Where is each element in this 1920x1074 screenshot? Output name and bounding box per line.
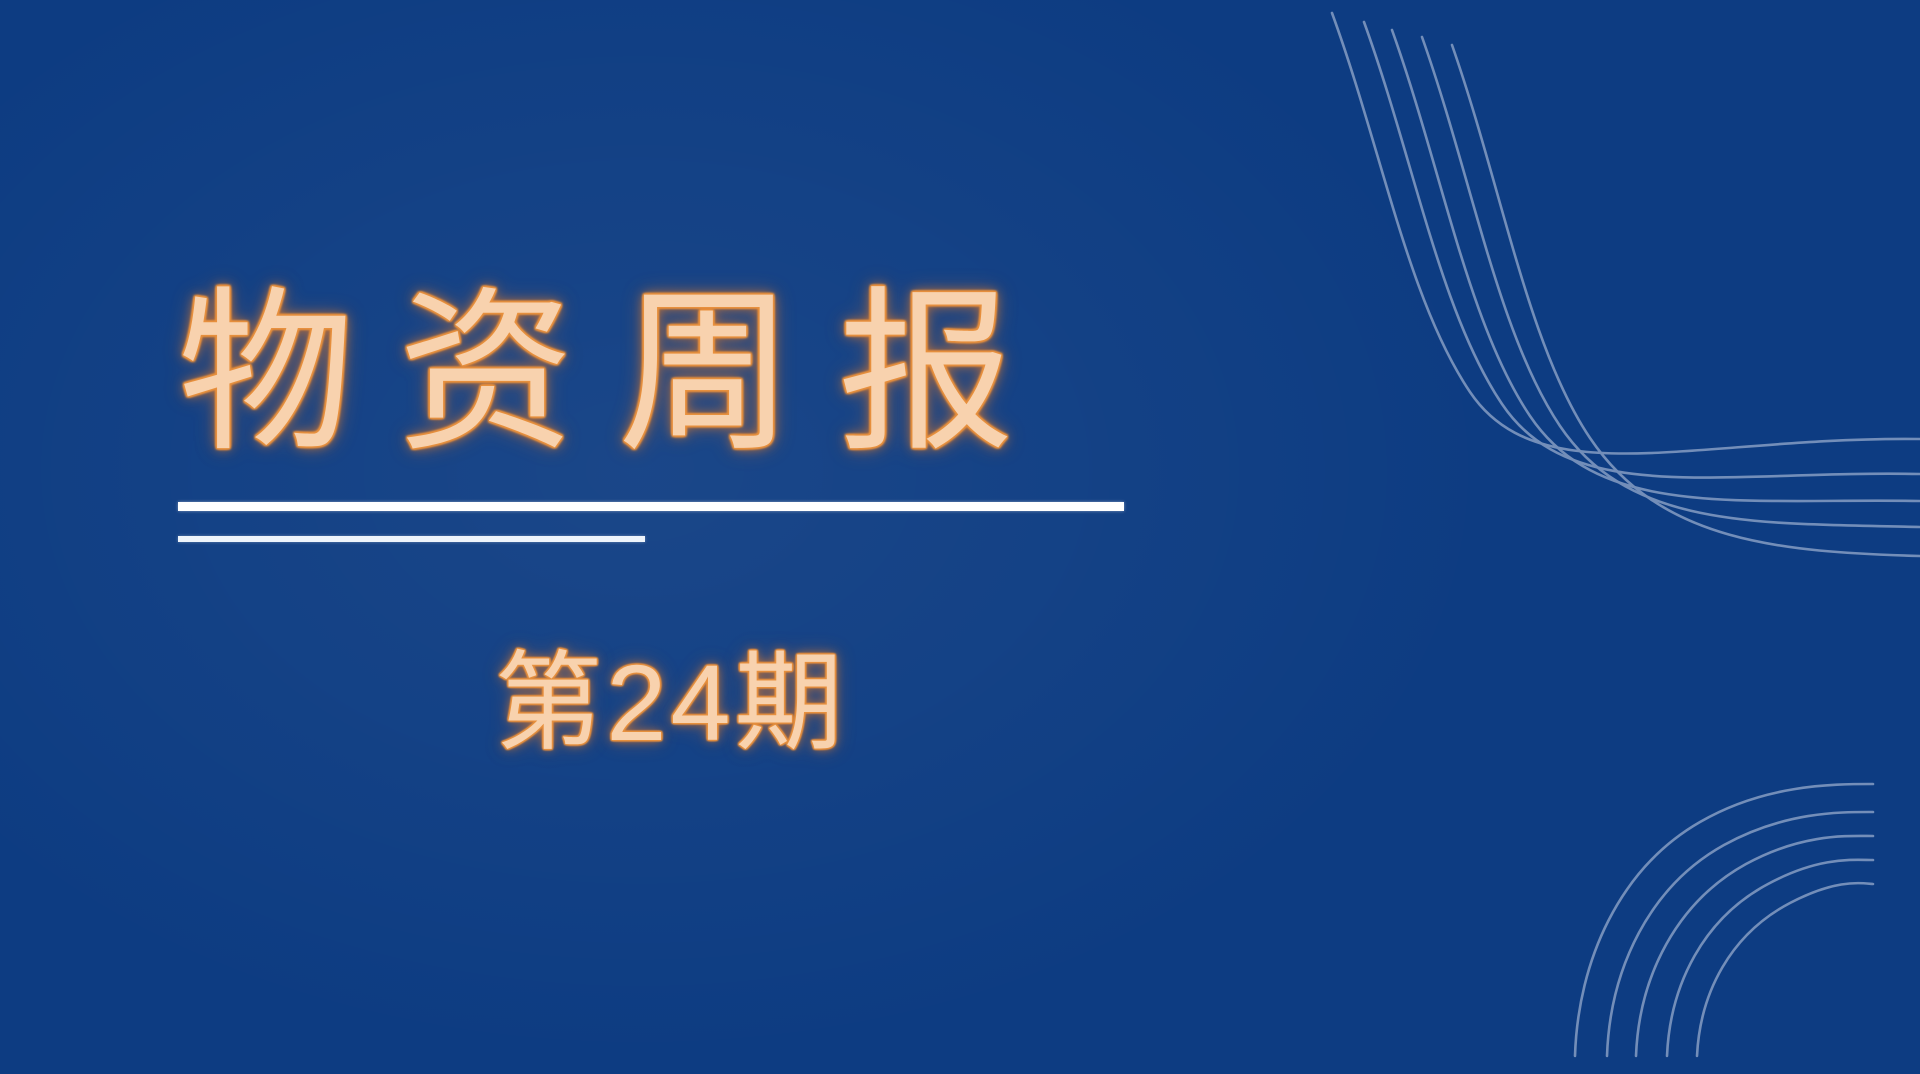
page-subtitle: 第24期 bbox=[178, 645, 1163, 762]
title-block: 物资周报 bbox=[178, 286, 1178, 462]
page-title: 物资周报 bbox=[178, 286, 1178, 462]
title-underline-long bbox=[178, 502, 1124, 511]
title-underline-short bbox=[178, 536, 645, 542]
subtitle-block: 第24期 bbox=[178, 645, 1163, 762]
title-slide: 物资周报 第24期 bbox=[0, 0, 1920, 1074]
